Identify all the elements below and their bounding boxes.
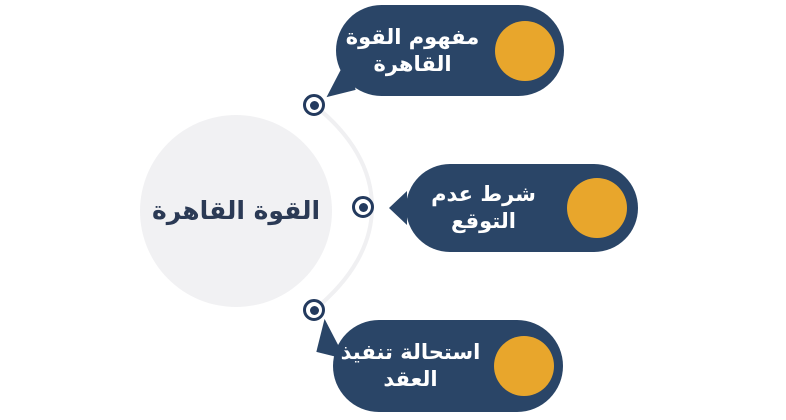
bullet-circle-icon-1 bbox=[495, 21, 555, 81]
node-dot-1[interactable] bbox=[303, 94, 325, 116]
node-dot-2[interactable] bbox=[352, 196, 374, 218]
bubble-tail-2-icon bbox=[389, 191, 407, 225]
branch-bubble-2-label: شرط عدم التوقع bbox=[406, 181, 567, 235]
branch-bubble-1-body: مفهوم القوة القاهرة bbox=[336, 5, 564, 96]
branch-bubble-1-label: مفهوم القوة القاهرة bbox=[336, 24, 495, 78]
branch-bubble-3[interactable]: استحالة تنفيذ العقد bbox=[333, 320, 563, 412]
branch-bubble-3-body: استحالة تنفيذ العقد bbox=[333, 320, 563, 412]
central-hub: القوة القاهرة bbox=[140, 115, 332, 307]
branch-bubble-1[interactable]: مفهوم القوة القاهرة bbox=[336, 5, 564, 96]
node-dot-3[interactable] bbox=[303, 299, 325, 321]
branch-bubble-2-body: شرط عدم التوقع bbox=[406, 164, 638, 252]
central-hub-label: القوة القاهرة bbox=[152, 195, 320, 226]
branch-bubble-2[interactable]: شرط عدم التوقع bbox=[406, 164, 638, 252]
branch-bubble-3-label: استحالة تنفيذ العقد bbox=[333, 339, 494, 393]
bullet-circle-icon-3 bbox=[494, 336, 554, 396]
bullet-circle-icon-2 bbox=[567, 178, 627, 238]
force-majeure-diagram: القوة القاهرة مفهوم القوة القاهرة شرط عد… bbox=[0, 0, 786, 420]
